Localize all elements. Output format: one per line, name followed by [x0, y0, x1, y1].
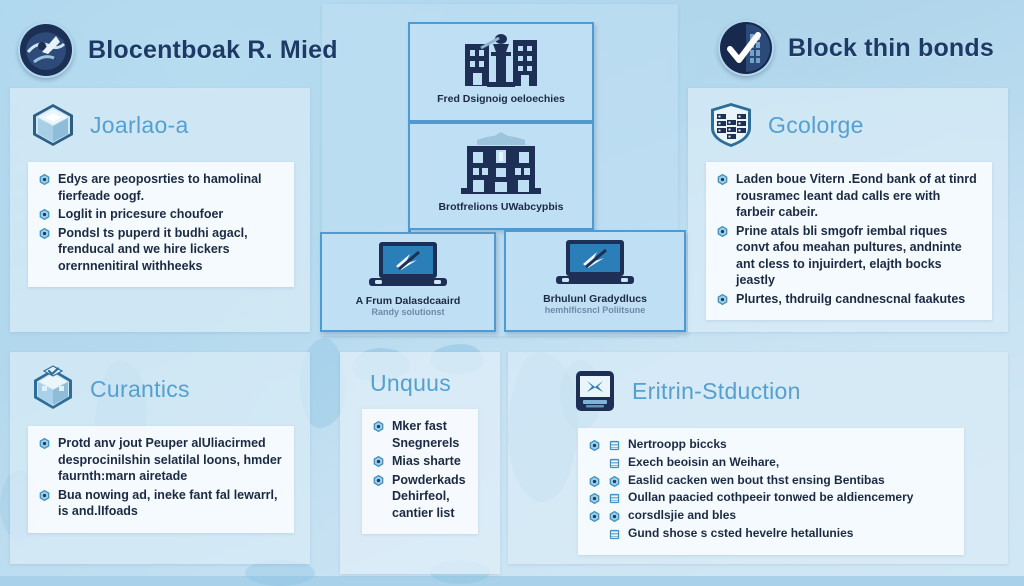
list-item-text: Protd anv jout Peuper alUliacirmed despr… [58, 435, 284, 485]
flow-node-sublabel: hemhlficsncl Poliitsune [545, 305, 646, 315]
list-item: Pondsl ts puperd it budhi agacl, frenduc… [38, 225, 284, 275]
gem-bullet-icon [608, 510, 621, 523]
bullet-card: Nertroopp biccks Exech beoisin an Weihar… [578, 428, 964, 555]
list-item-text: Gund shose s csted hevelre hetallunies [628, 526, 853, 542]
server-rack-icon [608, 457, 621, 470]
globe-rocket-badge-icon [18, 22, 74, 78]
gem-bullet-icon [588, 510, 601, 523]
section-header: Joarlao-a [10, 88, 310, 150]
laptop-chart-icon [552, 238, 638, 293]
section-header: Curantics [10, 352, 310, 414]
section-header: Gcolorge [688, 88, 1008, 150]
list-item-text: Prine atals bli smgofr iembal riques con… [736, 223, 982, 289]
list-item-text: Exech beoisin an Weihare, [628, 455, 779, 471]
flow-node-label: Brotfrelions UWabcypbis [432, 201, 569, 213]
gem-bullet-icon [38, 208, 51, 221]
list-item: Bua nowing ad, ineke fant fal lewarrl, i… [38, 487, 284, 520]
cube-check-icon [28, 364, 78, 414]
list-item-text: Easlid cacken wen bout thst ensing Benti… [628, 473, 885, 489]
list-item: Powderkads Dehirfeol, cantier list [372, 472, 468, 522]
server-rack-icon [608, 528, 621, 541]
laptop-chart-icon [365, 240, 451, 295]
section-bottom-right: Eritrin-Stduction Nertroopp biccks Exech… [508, 352, 1008, 564]
list-item-text: Laden boue Vitern .Eond bank of at tinrd… [736, 171, 982, 221]
gem-bullet-icon [608, 475, 621, 488]
list-item-text: Nertroopp biccks [628, 437, 727, 453]
server-rack-icon [608, 492, 621, 505]
section-top-right: Gcolorge Laden boue Vitern .Eond bank of… [688, 88, 1008, 332]
section-title: Curantics [90, 376, 190, 403]
list-item: Oullan paacied cothpeeir tonwed be aIdie… [588, 490, 954, 506]
gem-bullet-icon [716, 173, 729, 186]
section-top-left: Joarlao-a Edys are peoposrties to hamoli… [10, 88, 310, 332]
list-item: Prine atals bli smgofr iembal riques con… [716, 223, 982, 289]
list-item: Protd anv jout Peuper alUliacirmed despr… [38, 435, 284, 485]
list-item: Loglit in pricesure choufoer [38, 206, 284, 223]
gem-bullet-icon [588, 475, 601, 488]
gem-bullet-icon [372, 455, 385, 468]
section-header: Unquus [340, 352, 500, 397]
gem-bullet-icon [38, 227, 51, 240]
section-header: Eritrin-Stduction [508, 352, 1008, 416]
list-item-text: Oullan paacied cothpeeir tonwed be aIdie… [628, 490, 913, 506]
list-item-text: Mker fast Snegnerels [392, 418, 468, 451]
section-title: Unquus [370, 370, 451, 397]
gem-bullet-icon [372, 420, 385, 433]
flow-node-label: Brhulunl Gradydlucs [537, 293, 653, 305]
section-bottom-left: Curantics Protd anv jout Peuper alUliaci… [10, 352, 310, 564]
gem-bullet-icon [588, 492, 601, 505]
header-right: Block thin bonds [718, 20, 994, 76]
list-item-text: Powderkads Dehirfeol, cantier list [392, 472, 468, 522]
list-item: Mker fast Snegnerels [372, 418, 468, 451]
flow-node-mid[interactable]: Brotfrelions UWabcypbis [408, 122, 594, 230]
flow-node-label: Fred Dsignoig oeloechies [431, 93, 571, 105]
list-item: Plurtes, thdruilg candnescnal faakutes [716, 291, 982, 308]
gem-bullet-icon [38, 489, 51, 502]
list-item-text: Loglit in pricesure choufoer [58, 206, 223, 223]
gem-bullet-icon [38, 173, 51, 186]
gem-bullet-icon [716, 225, 729, 238]
list-item: Laden boue Vitern .Eond bank of at tinrd… [716, 171, 982, 221]
bank-columns-icon [455, 30, 547, 93]
x-tablet-icon [570, 366, 620, 416]
flow-node-top[interactable]: Fred Dsignoig oeloechies [408, 22, 594, 122]
list-item: Nertroopp biccks [588, 437, 954, 453]
list-item-text: Mias sharte [392, 453, 461, 470]
section-title: Gcolorge [768, 112, 864, 139]
gem-bullet-icon [588, 439, 601, 452]
server-rack-icon [608, 439, 621, 452]
flow-node-label: A Frum Dalasdcaaird [350, 295, 467, 307]
bullet-card: Edys are peoposrties to hamolinal fierfe… [28, 162, 294, 287]
list-item: Edys are peoposrties to hamolinal fierfe… [38, 171, 284, 204]
list-item: Exech beoisin an Weihare, [588, 455, 954, 471]
section-title: Joarlao-a [90, 112, 189, 139]
header-left-title: Blocentboak R. Mied [88, 36, 338, 65]
institution-icon [451, 130, 551, 201]
header-left: Blocentboak R. Mied [18, 22, 338, 78]
section-bottom-middle: Unquus Mker fast Snegnerels Mias sharte … [340, 352, 500, 574]
flow-node-left[interactable]: A Frum Dalasdcaaird Randy solutionst [320, 232, 496, 332]
bullet-card: Mker fast Snegnerels Mias sharte Powderk… [362, 409, 478, 534]
bullet-card: Protd anv jout Peuper alUliacirmed despr… [28, 426, 294, 533]
flow-node-right[interactable]: Brhulunl Gradydlucs hemhlficsncl Poliits… [504, 230, 686, 332]
gem-bullet-icon [716, 293, 729, 306]
isometric-cube-icon [28, 100, 78, 150]
gem-bullet-icon [372, 474, 385, 487]
bullet-card: Laden boue Vitern .Eond bank of at tinrd… [706, 162, 992, 320]
check-shield-badge-icon [718, 20, 774, 76]
list-item: corsdlsjie and bles [588, 508, 954, 524]
list-item: Gund shose s csted hevelre hetallunies [588, 526, 954, 542]
list-item-text: corsdlsjie and bles [628, 508, 736, 524]
gem-bullet-icon [38, 437, 51, 450]
list-item-text: Pondsl ts puperd it budhi agacl, frenduc… [58, 225, 284, 275]
header-right-title: Block thin bonds [788, 34, 994, 63]
list-item-text: Edys are peoposrties to hamolinal fierfe… [58, 171, 284, 204]
list-item-text: Bua nowing ad, ineke fant fal lewarrl, i… [58, 487, 284, 520]
list-item: Easlid cacken wen bout thst ensing Benti… [588, 473, 954, 489]
list-item-text: Plurtes, thdruilg candnescnal faakutes [736, 291, 965, 308]
flow-node-sublabel: Randy solutionst [371, 307, 444, 317]
list-item: Mias sharte [372, 453, 468, 470]
section-title: Eritrin-Stduction [632, 378, 801, 405]
shield-servers-icon [706, 100, 756, 150]
infographic-canvas: Fred Dsignoig oeloechies [0, 0, 1024, 576]
